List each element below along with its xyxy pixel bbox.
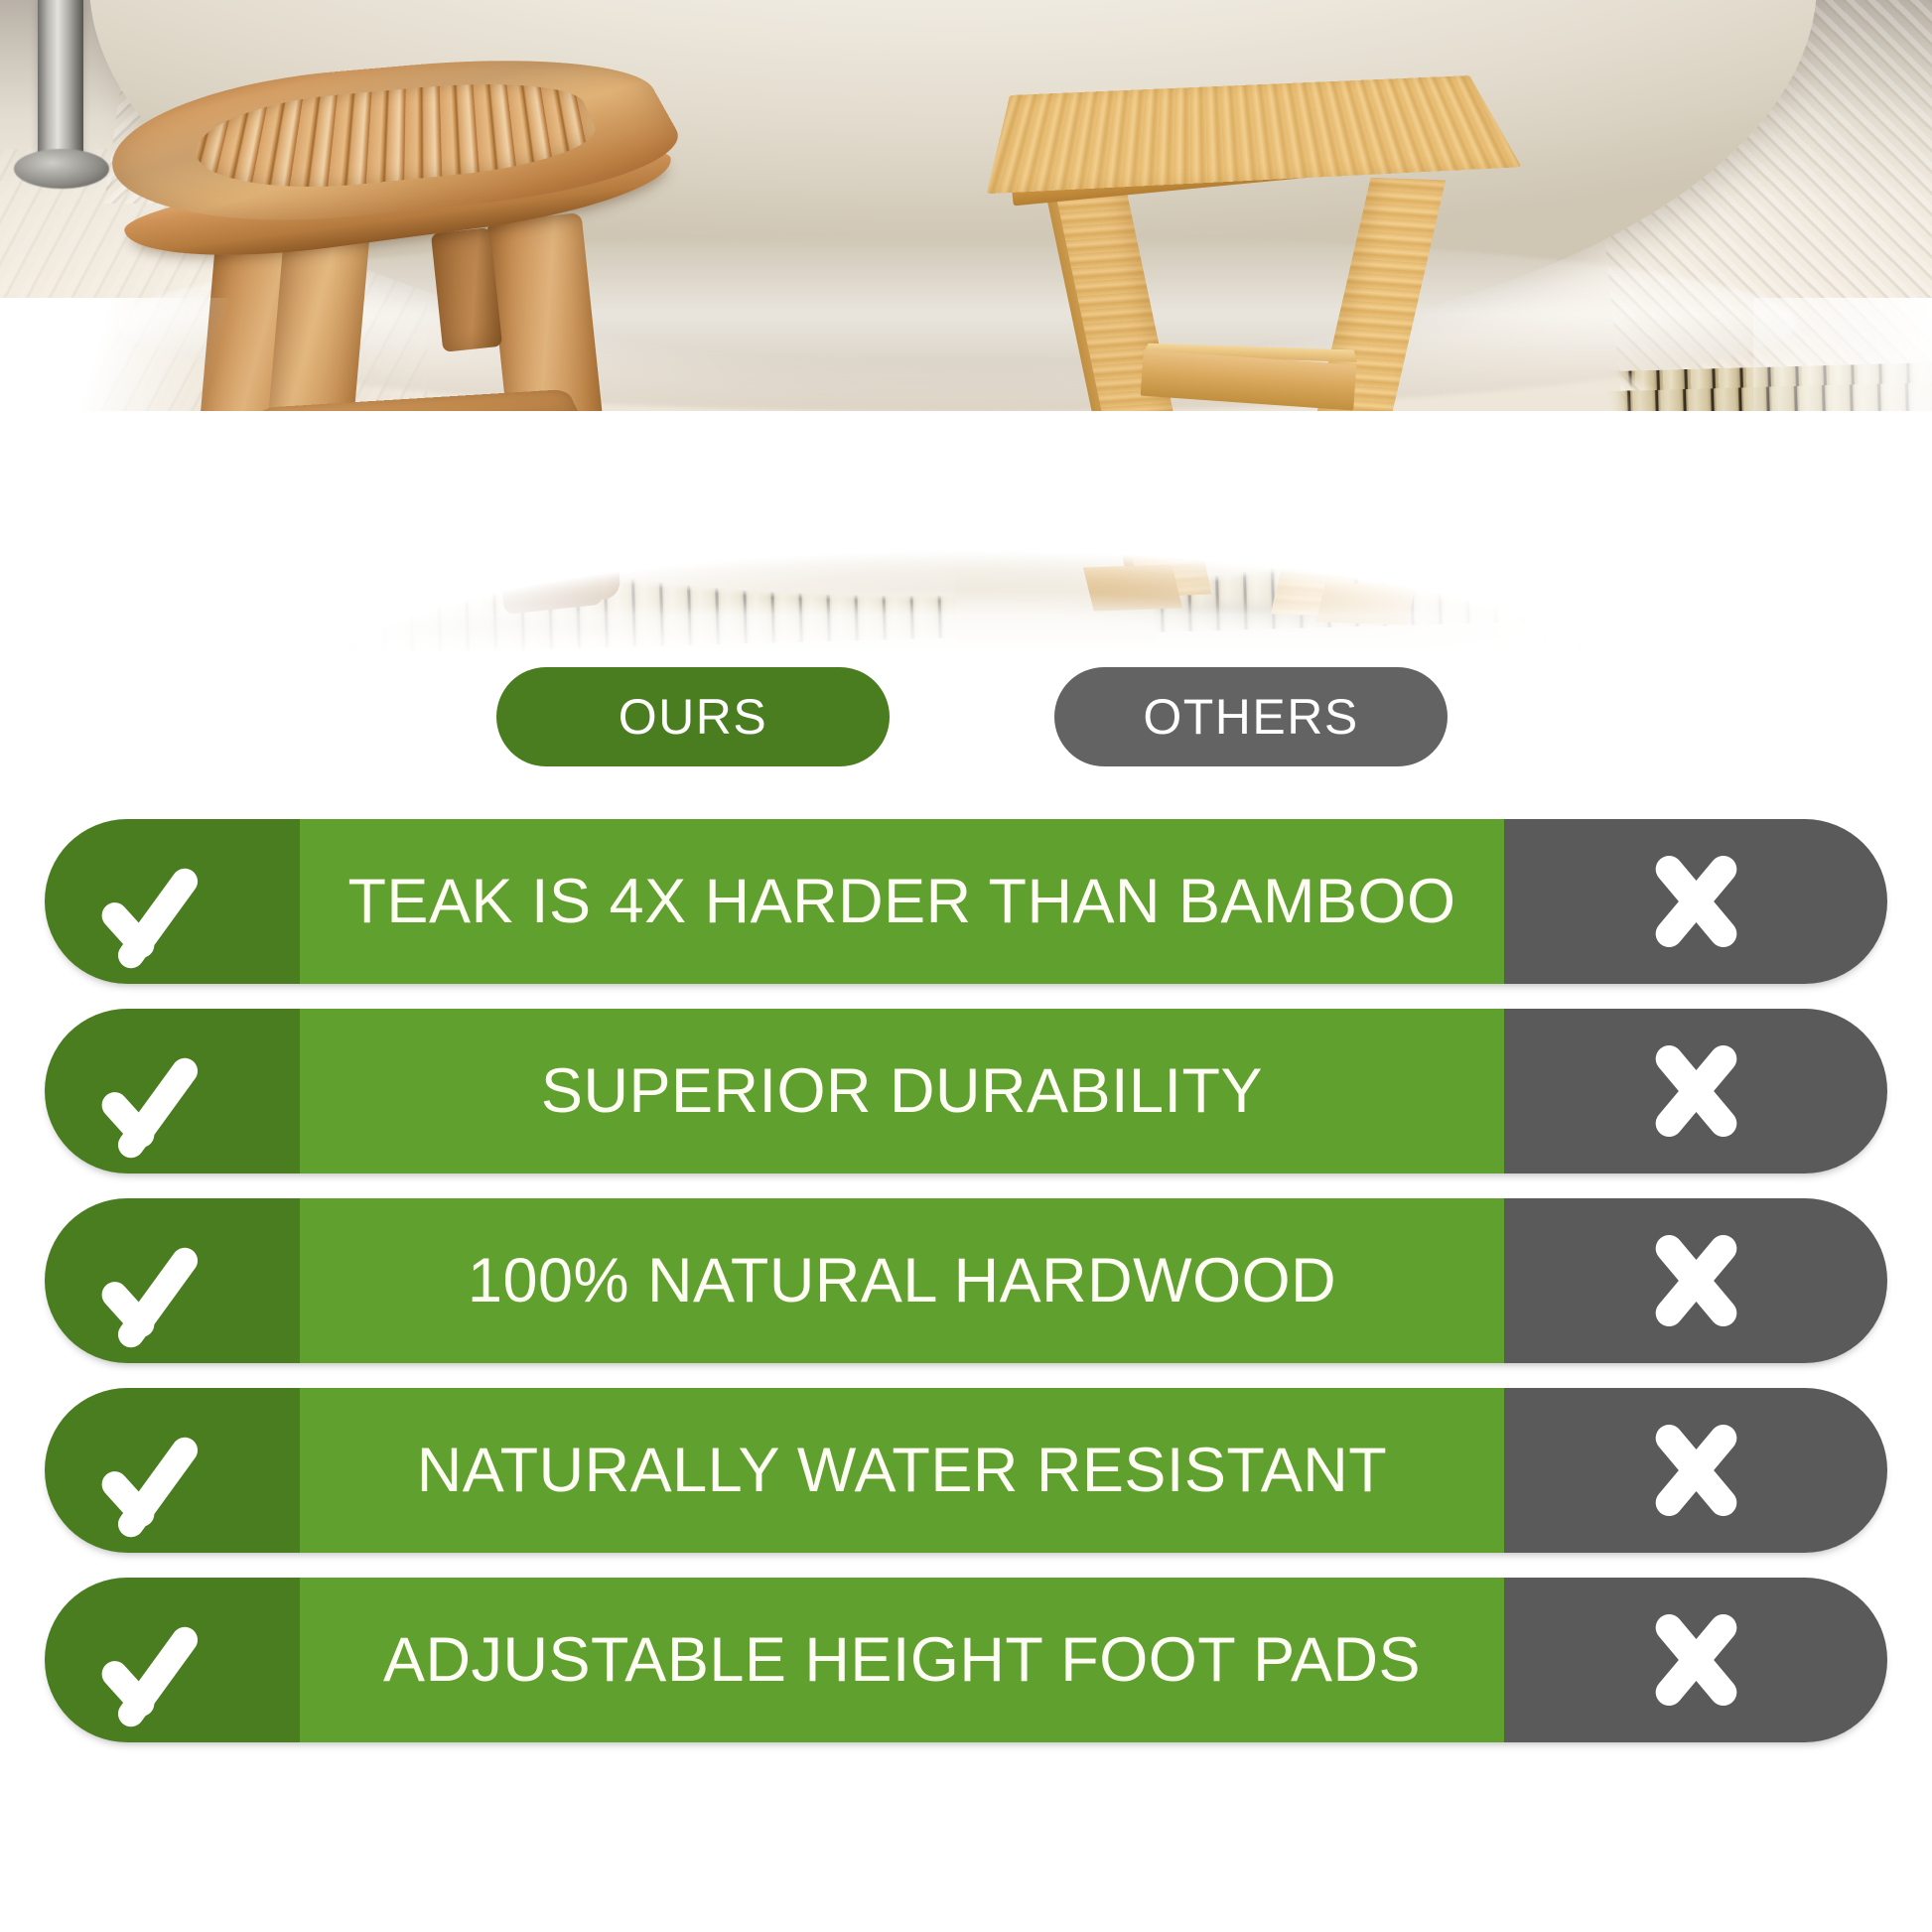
feature-label: 100% NATURAL HARDWOOD — [468, 1250, 1336, 1312]
ours-cell — [45, 1009, 300, 1173]
teak-brace-right — [431, 227, 502, 352]
check-icon — [111, 1043, 234, 1139]
feature-cell: TEAK IS 4X HARDER THAN BAMBOO — [300, 819, 1504, 984]
others-cell — [1504, 1578, 1887, 1742]
check-icon — [111, 1423, 234, 1518]
comparison-infographic: OURS OTHERS TEAK IS 4X HARDER THAN BAMBO… — [0, 0, 1932, 1932]
feature-cell: SUPERIOR DURABILITY — [300, 1009, 1504, 1173]
badge-ours-label: OURS — [619, 688, 767, 746]
x-icon — [1644, 1039, 1747, 1143]
feature-label: TEAK IS 4X HARDER THAN BAMBOO — [347, 871, 1455, 933]
badge-ours: OURS — [496, 667, 890, 766]
others-cell — [1504, 1198, 1887, 1363]
x-icon — [1644, 1608, 1747, 1712]
feature-cell: NATURALLY WATER RESISTANT — [300, 1388, 1504, 1553]
table-row: TEAK IS 4X HARDER THAN BAMBOO — [45, 819, 1887, 984]
badge-others: OTHERS — [1054, 667, 1448, 766]
faucet-pole-icon — [38, 0, 83, 167]
hero-bottom-fade-linear — [0, 566, 1932, 655]
faucet-base — [14, 149, 109, 189]
comparison-table: TEAK IS 4X HARDER THAN BAMBOO SUPERIOR D… — [0, 819, 1932, 1742]
feature-label: NATURALLY WATER RESISTANT — [417, 1440, 1387, 1502]
ours-cell — [45, 1388, 300, 1553]
others-cell — [1504, 1009, 1887, 1173]
check-icon — [111, 854, 234, 949]
others-cell — [1504, 1388, 1887, 1553]
check-icon — [111, 1612, 234, 1708]
hero-photo-section — [0, 0, 1932, 655]
ours-cell — [45, 819, 300, 984]
x-icon — [1644, 1419, 1747, 1522]
feature-cell: 100% NATURAL HARDWOOD — [300, 1198, 1504, 1363]
table-row: 100% NATURAL HARDWOOD — [45, 1198, 1887, 1363]
others-cell — [1504, 819, 1887, 984]
check-icon — [111, 1233, 234, 1328]
table-row: NATURALLY WATER RESISTANT — [45, 1388, 1887, 1553]
x-icon — [1644, 1229, 1747, 1332]
feature-label: SUPERIOR DURABILITY — [541, 1060, 1263, 1123]
ours-cell — [45, 1578, 300, 1742]
x-icon — [1644, 850, 1747, 953]
feature-cell: ADJUSTABLE HEIGHT FOOT PADS — [300, 1578, 1504, 1742]
table-row: ADJUSTABLE HEIGHT FOOT PADS — [45, 1578, 1887, 1742]
bamboo-seat-top — [987, 75, 1522, 194]
table-row: SUPERIOR DURABILITY — [45, 1009, 1887, 1173]
ours-cell — [45, 1198, 300, 1363]
feature-label: ADJUSTABLE HEIGHT FOOT PADS — [383, 1629, 1421, 1692]
badge-others-label: OTHERS — [1143, 688, 1358, 746]
